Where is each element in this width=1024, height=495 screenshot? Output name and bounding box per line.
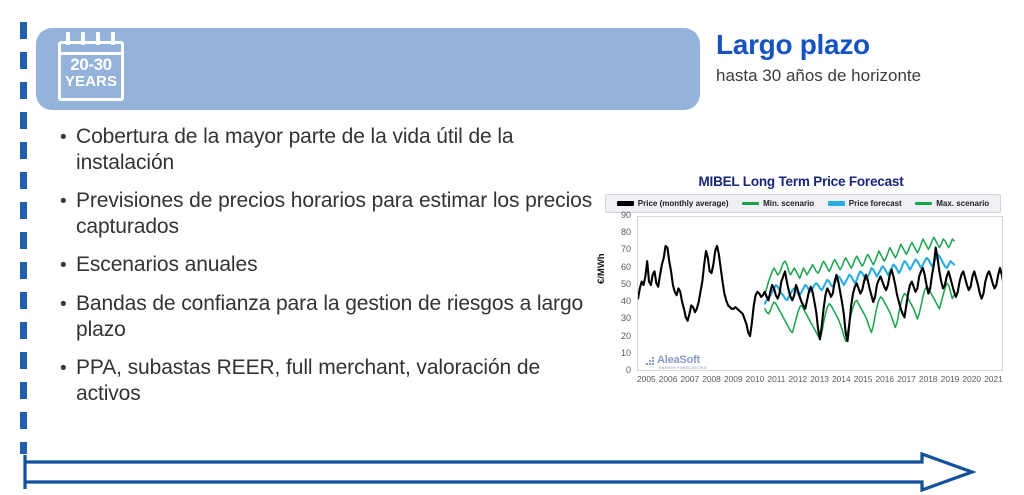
- calendar-label-years-word: YEARS: [58, 74, 124, 89]
- chart-legend: Price (monthly average) Min. scenario Pr…: [605, 194, 1001, 213]
- timeline-dashed-rail: [20, 22, 27, 454]
- bullet-marker: •: [60, 252, 76, 280]
- x-axis-tick-label: 2021: [984, 374, 1003, 390]
- x-axis-tick-label: 2020: [962, 374, 981, 390]
- y-axis-tick-label: 70: [609, 245, 631, 254]
- legend-item-min-scenario: Min. scenario: [742, 199, 814, 208]
- y-axis-tick-label: 30: [609, 314, 631, 323]
- legend-label-min-scenario: Min. scenario: [763, 199, 814, 208]
- bullet-marker: •: [60, 355, 76, 383]
- x-axis-tick-label: 2006: [659, 374, 678, 390]
- x-axis-tick-label: 2007: [680, 374, 699, 390]
- bullet-text: Bandas de confianza para la gestion de r…: [76, 291, 605, 344]
- legend-swatch-price: [617, 201, 634, 206]
- legend-item-price: Price (monthly average): [617, 199, 729, 208]
- bullet-list: • Cobertura de la mayor parte de la vida…: [60, 124, 605, 419]
- x-axis-tick-label: 2011: [767, 374, 785, 390]
- bullet-marker: •: [60, 188, 76, 216]
- legend-label-max-scenario: Max. scenario: [936, 199, 989, 208]
- watermark-dots-icon: [646, 356, 655, 366]
- x-axis-tick-label: 2010: [746, 374, 765, 390]
- bullet-marker: •: [60, 291, 76, 319]
- x-axis-tick-label: 2018: [919, 374, 938, 390]
- list-item: • Bandas de confianza para la gestion de…: [60, 291, 605, 344]
- y-axis-tick-label: 0: [609, 366, 631, 375]
- bullet-text: Escenarios anuales: [76, 252, 605, 278]
- legend-swatch-price-forecast: [828, 201, 845, 206]
- x-axis-tick-label: 2014: [832, 374, 851, 390]
- legend-swatch-min-scenario: [742, 202, 759, 206]
- y-axis-tick-label: 60: [609, 263, 631, 272]
- aleasoft-watermark: AleaSoft ENERGY FORECASTING: [646, 354, 700, 366]
- x-axis-tick-label: 2017: [897, 374, 916, 390]
- list-item: • Previsiones de precios horarios para e…: [60, 188, 605, 241]
- x-axis-tick-label: 2019: [941, 374, 960, 390]
- bullet-marker: •: [60, 124, 76, 152]
- legend-label-price: Price (monthly average): [638, 199, 729, 208]
- price-forecast-chart: MIBEL Long Term Price Forecast Price (mo…: [595, 172, 1007, 400]
- title-block: Largo plazo hasta 30 años de horizonte: [716, 30, 1016, 86]
- y-axis-title: €/MWh: [596, 253, 607, 284]
- list-item: • Cobertura de la mayor parte de la vida…: [60, 124, 605, 177]
- y-axis-tick-label: 40: [609, 297, 631, 306]
- plot-area: AleaSoft ENERGY FORECASTING: [637, 216, 1003, 371]
- y-axis-tick-label: 20: [609, 332, 631, 341]
- calendar-header-band: [58, 41, 124, 55]
- x-axis-tick-label: 2015: [854, 374, 873, 390]
- x-axis-ticks: 2005200620072008200920102011201220132014…: [637, 374, 1003, 390]
- list-item: • Escenarios anuales: [60, 252, 605, 280]
- legend-label-price-forecast: Price forecast: [849, 199, 902, 208]
- y-axis-tick-label: 90: [609, 211, 631, 220]
- calendar-icon: 20-30 YEARS: [52, 32, 130, 104]
- legend-item-price-forecast: Price forecast: [828, 199, 902, 208]
- series-line: [638, 246, 1002, 341]
- watermark-tagline: ENERGY FORECASTING: [659, 366, 707, 370]
- y-axis-ticks: 9080706050403020100: [607, 216, 631, 371]
- plot-svg: [638, 217, 1002, 370]
- x-axis-tick-label: 2005: [637, 374, 656, 390]
- bullet-text: PPA, subastas REER, full merchant, valor…: [76, 355, 605, 408]
- bullet-text: Cobertura de la mayor parte de la vida ú…: [76, 124, 605, 177]
- watermark-brand: AleaSoft: [657, 354, 700, 366]
- x-axis-tick-label: 2009: [724, 374, 743, 390]
- x-axis-tick-label: 2013: [810, 374, 829, 390]
- chart-title: MIBEL Long Term Price Forecast: [595, 174, 1007, 189]
- plot-wrap: €/MWh 9080706050403020100 AleaSoft ENERG…: [595, 216, 1007, 401]
- calendar-label: 20-30 YEARS: [58, 56, 124, 90]
- bullet-text: Previsiones de precios horarios para est…: [76, 188, 605, 241]
- list-item: • PPA, subastas REER, full merchant, val…: [60, 355, 605, 408]
- legend-item-max-scenario: Max. scenario: [915, 199, 989, 208]
- y-axis-tick-label: 50: [609, 280, 631, 289]
- page-title: Largo plazo: [716, 30, 1016, 60]
- timeline-arrow: [22, 452, 982, 492]
- y-axis-tick-label: 10: [609, 349, 631, 358]
- header-banner: [36, 28, 700, 110]
- calendar-label-years-range: 20-30: [58, 56, 124, 73]
- page-subtitle: hasta 30 años de horizonte: [716, 66, 1016, 86]
- x-axis-tick-label: 2012: [789, 374, 808, 390]
- x-axis-tick-label: 2016: [875, 374, 894, 390]
- legend-swatch-max-scenario: [915, 202, 932, 206]
- y-axis-tick-label: 80: [609, 228, 631, 237]
- x-axis-tick-label: 2008: [702, 374, 721, 390]
